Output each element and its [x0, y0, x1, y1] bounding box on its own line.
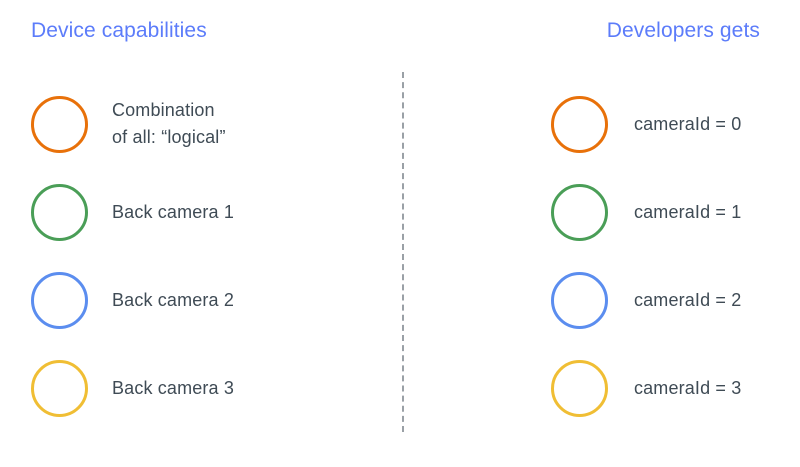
orange-circle-icon — [551, 96, 608, 153]
green-circle-icon — [31, 184, 88, 241]
row-label: cameraId = 0 — [634, 111, 741, 138]
row-label: Back camera 1 — [112, 199, 234, 226]
diagram-row: cameraId = 2 — [551, 256, 781, 344]
diagram-row: Back camera 3 — [31, 344, 371, 432]
orange-circle-icon — [31, 96, 88, 153]
diagram-row: cameraId = 1 — [551, 168, 781, 256]
row-label: cameraId = 1 — [634, 199, 741, 226]
row-label: Combination of all: “logical” — [112, 97, 226, 151]
yellow-circle-icon — [31, 360, 88, 417]
left-column: Combination of all: “logical”Back camera… — [31, 80, 371, 432]
row-label: cameraId = 3 — [634, 375, 741, 402]
vertical-dashed-divider — [402, 72, 404, 432]
yellow-circle-icon — [551, 360, 608, 417]
blue-circle-icon — [551, 272, 608, 329]
row-label: Back camera 3 — [112, 375, 234, 402]
diagram-row: cameraId = 0 — [551, 80, 781, 168]
diagram-row: Back camera 1 — [31, 168, 371, 256]
diagram-row: Back camera 2 — [31, 256, 371, 344]
green-circle-icon — [551, 184, 608, 241]
right-column: cameraId = 0cameraId = 1cameraId = 2came… — [551, 80, 781, 432]
row-label: cameraId = 2 — [634, 287, 741, 314]
diagram-row: cameraId = 3 — [551, 344, 781, 432]
diagram-row: Combination of all: “logical” — [31, 80, 371, 168]
camera-id-mapping-diagram: Device capabilities Developers gets Comb… — [0, 0, 800, 467]
right-column-header: Developers gets — [607, 19, 760, 43]
row-label: Back camera 2 — [112, 287, 234, 314]
blue-circle-icon — [31, 272, 88, 329]
left-column-header: Device capabilities — [31, 19, 207, 43]
